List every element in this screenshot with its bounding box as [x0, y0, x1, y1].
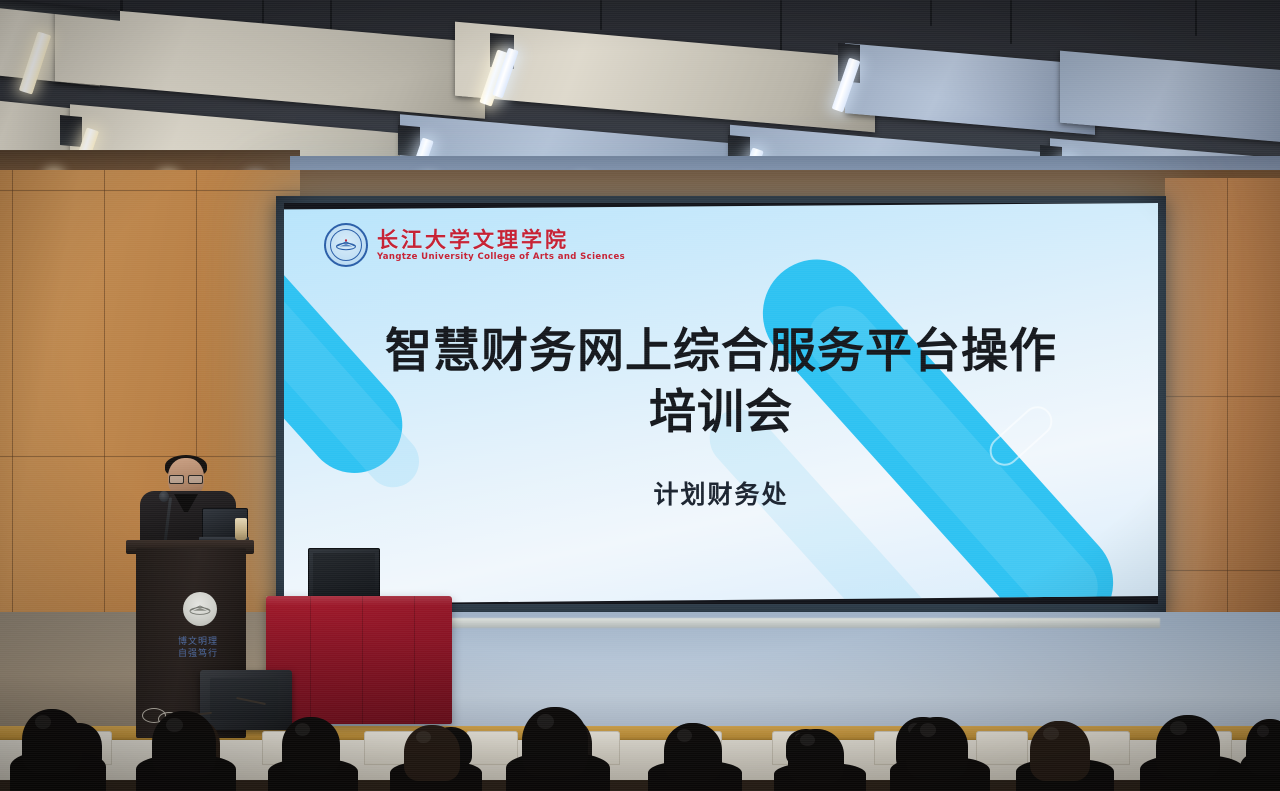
- seated-audience: [0, 700, 1280, 791]
- slide-subtitle: 计划财务处: [284, 475, 1158, 511]
- audience-head: [152, 711, 216, 777]
- ceiling-conduit: [600, 0, 602, 30]
- university-name-en: Yangtze University College of Arts and S…: [377, 253, 625, 262]
- audience-head: [404, 725, 460, 781]
- microphone-head-icon: [159, 491, 169, 502]
- ceiling-conduit: [330, 0, 332, 30]
- ceiling-conduit: [1010, 0, 1012, 44]
- slide-title-line1: 智慧财务网上综合服务平台操作: [385, 324, 1057, 379]
- monitor-screen: [313, 553, 375, 597]
- glasses-icon: [169, 475, 203, 482]
- podium-motto-line1: 博文明理: [158, 636, 238, 648]
- audience-head: [522, 707, 588, 777]
- podium-seal-icon: [183, 592, 217, 626]
- podium-motto: 博文明理 自强笃行: [158, 636, 238, 660]
- wall-seam: [1165, 570, 1280, 571]
- slide-title: 智慧财务网上综合服务平台操作 培训会: [284, 321, 1158, 443]
- audience-head: [1246, 719, 1280, 775]
- ceiling-conduit: [930, 0, 932, 26]
- university-logo-text: 长江大学文理学院 Yangtze University College of A…: [377, 229, 625, 262]
- podium-motto-line2: 自强笃行: [158, 648, 238, 660]
- audience-head: [282, 717, 340, 775]
- ceiling-conduit: [1195, 0, 1197, 36]
- slide-title-line2: 培训会: [324, 382, 1118, 443]
- audience-head: [1030, 721, 1090, 781]
- paper-cup: [235, 518, 247, 540]
- audience-head: [906, 717, 968, 779]
- conference-hall-photo: 长江大学文理学院 Yangtze University College of A…: [0, 0, 1280, 791]
- confidence-monitor-on-table: [308, 548, 380, 602]
- wall-seam: [0, 190, 300, 191]
- stage-wall-base-trim: [400, 618, 1160, 628]
- ceiling-conduit: [780, 0, 782, 52]
- ceiling-beam: [60, 115, 82, 147]
- university-name-cn: 长江大学文理学院: [377, 229, 625, 250]
- wall-seam: [0, 456, 300, 457]
- audience-head: [788, 729, 844, 783]
- audience-head: [22, 709, 82, 773]
- university-seal-icon: [324, 223, 368, 267]
- presentation-screen[interactable]: 长江大学文理学院 Yangtze University College of A…: [284, 203, 1158, 604]
- seat: [976, 731, 1028, 765]
- audience-head: [664, 723, 722, 781]
- audience-head: [1156, 715, 1220, 779]
- wall-seam: [1165, 396, 1280, 397]
- university-logo: 长江大学文理学院 Yangtze University College of A…: [324, 223, 625, 267]
